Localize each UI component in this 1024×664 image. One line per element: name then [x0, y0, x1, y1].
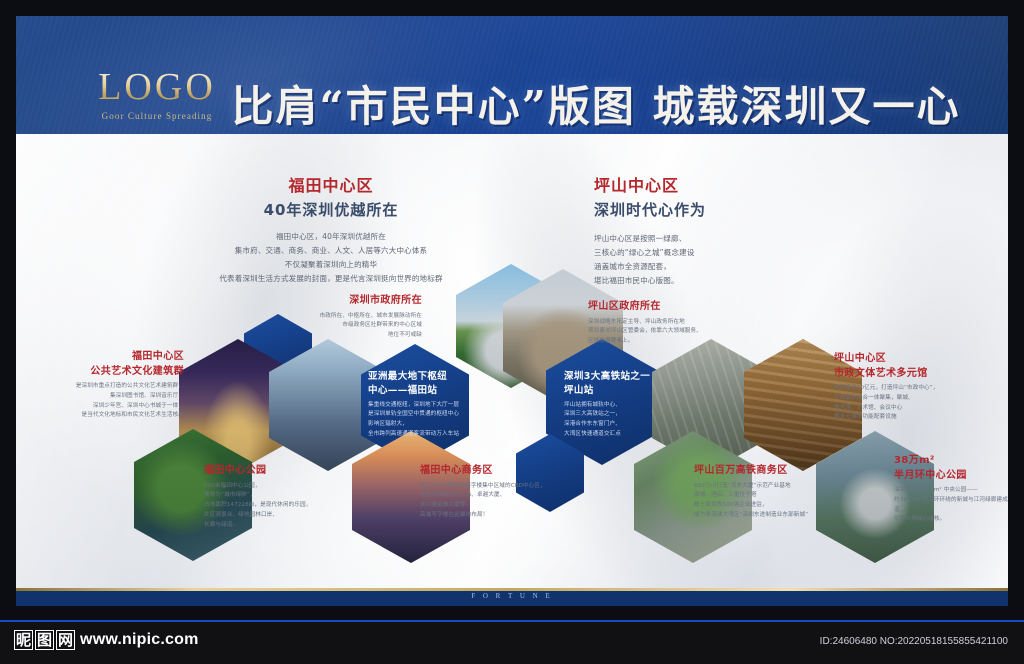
watermark-id: ID:24606480 NO:20220518155855421100 [820, 636, 1008, 647]
watermark-brand-cn: 昵 图 网 [14, 630, 75, 650]
label-pingshan-government: 坪山区政府所在 深圳战略东拓定主导、坪山政务所在地 项目紧邻坪山区管委会，依靠六… [588, 300, 758, 347]
label-pingshan-hsr-station-heading: 深圳3大高铁站之一 坪山站 [564, 370, 670, 398]
label-futian-central-park: 福田中心公园 800米福田中心公园， 被称为“城市绿肺”， 占地面积147228… [204, 464, 354, 530]
watermark-url[interactable]: www.nipic.com [80, 631, 198, 649]
futian-body-line-3: 不仅凝聚着深圳向上的精华 [156, 258, 506, 272]
label-pingshan-arts-pavilion-body: 政府投资10亿元，打造坪山“市政中心”， 文体娱乐综合一体聚集，聚城、 美术馆、… [834, 384, 994, 423]
label-pingshan-hsr-business-heading: 坪山百万高铁商务区 [694, 464, 864, 479]
label-half-moon-park-body: 深圳区大规划万m² 中央公园—— 约38万m² 半月环环绕的新城与江河绿廊建成大… [894, 486, 1008, 525]
label-half-moon-park-heading: 38万m² 半月环中心公园 [894, 454, 1008, 483]
column-heading-pingshan: 坪山中心区 深圳时代心作为 [594, 174, 854, 222]
page-title: 比肩“市民中心”版图 城载深圳又一心 [216, 76, 976, 138]
footer-mark-line-2: C I T Y [16, 603, 1008, 606]
watermark-char-3: 网 [56, 630, 75, 650]
label-pingshan-hsr-business-body: 682万㎡打造“湾东大厦”示范产业基地 商铺、酒店、三重住子塔 数十家世界500… [694, 482, 864, 521]
column-heading-futian: 福田中心区 40年深圳优越所在 [176, 174, 486, 222]
label-pingshan-hsr-business: 坪山百万高铁商务区 682万㎡打造“湾东大厦”示范产业基地 商铺、酒店、三重住子… [694, 464, 864, 521]
label-pingshan-government-body: 深圳战略东拓定主导、坪山政务所在地 项目紧邻坪山区管委会，依靠六大领域服务、 区… [588, 318, 758, 347]
label-sz-government-heading: 深圳市政府所在 [244, 294, 422, 309]
label-half-moon-park: 38万m² 半月环中心公园 深圳区大规划万m² 中央公园—— 约38万m² 半月… [894, 454, 1008, 525]
label-sz-government-body: 市政所在、中枢所在、城市发展脉动所在 市级政务区社群带来的中心区域 地位不可或缺 [244, 312, 422, 341]
label-futian-station-hub: 亚洲最大地下枢纽 中心——福田站 集重线交通枢纽，深圳地下大厅一层 是深圳单轨全… [368, 370, 468, 440]
watermark-bar: 昵 图 网 www.nipic.com ID:24606480 NO:20220… [0, 622, 1024, 664]
label-futian-cbd-heading: 福田中心商务区 [420, 464, 572, 479]
footer-mark-line-1: F O R T U N E [16, 590, 1008, 603]
poster-root: LOGO Goor Culture Spreading 比肩“市民中心”版图 城… [0, 0, 1024, 664]
pingshan-body-line-4: 堪比福田市民中心版图。 [594, 274, 844, 288]
column-title-blue-futian: 40年深圳优越所在 [176, 198, 486, 222]
column-title-red-pingshan: 坪山中心区 [594, 174, 854, 198]
label-pingshan-arts-pavilion: 坪山中心区 市政文体艺术多元馆 政府投资10亿元，打造坪山“市政中心”， 文体娱… [834, 352, 994, 423]
label-futian-central-park-heading: 福田中心公园 [204, 464, 354, 479]
label-pingshan-arts-pavilion-heading: 坪山中心区 市政文体艺术多元馆 [834, 352, 994, 381]
watermark-char-2: 图 [35, 630, 54, 650]
label-futian-station-hub-body: 集重线交通枢纽，深圳地下大厅一层 是深圳单轨全国空中贯通的枢纽中心 影响区辐射大… [368, 401, 468, 440]
label-pingshan-government-heading: 坪山区政府所在 [588, 300, 758, 315]
poster-header: LOGO Goor Culture Spreading 比肩“市民中心”版图 城… [16, 16, 1008, 134]
label-sz-government: 深圳市政府所在 市政所在、中枢所在、城市发展脉动所在 市级政务区社群带来的中心区… [244, 294, 422, 341]
futian-body-line-1: 福田中心区，40年深圳优越所在 [156, 230, 506, 244]
column-body-pingshan: 坪山中心区是按照一绿廊、 三核心的“绿心之城”概念建设 涵盖城市全资源配套， 堪… [594, 232, 844, 288]
footer-brand-mark: F O R T U N E C I T Y [16, 590, 1008, 606]
pingshan-body-line-2: 三核心的“绿心之城”概念建设 [594, 246, 844, 260]
futian-body-line-4: 代表着深圳生活方式发展的封面，更是代言深圳挺向世界的地标群 [156, 272, 506, 286]
pingshan-body-line-1: 坪山中心区是按照一绿廊、 [594, 232, 844, 246]
label-futian-cbd-body: 超700万㎡建筑规模字楼集中区域的CBD中心区， 包括华润新时代广场、卓越大厦、… [420, 482, 572, 521]
column-body-futian: 福田中心区，40年深圳优越所在 集市府、交通、商务、商业、人文、人居等六大中心体… [156, 230, 506, 286]
column-title-blue-pingshan: 深圳时代心作为 [594, 198, 854, 222]
content-canvas: 福田中心区 40年深圳优越所在 福田中心区，40年深圳优越所在 集市府、交通、商… [16, 134, 1008, 591]
watermark-brand: 昵 图 网 www.nipic.com [14, 630, 199, 650]
label-pingshan-hsr-station-body: 坪山站拥有城轨中心、 深圳三大高铁站之一， 深港合作东东窗门户、 大湾区快速通道… [564, 401, 670, 440]
label-futian-central-park-body: 800米福田中心公园， 被称为“城市绿肺”， 占地面积147228亩，是现代休闲… [204, 482, 354, 531]
poster-outer-frame: LOGO Goor Culture Spreading 比肩“市民中心”版图 城… [0, 0, 1024, 622]
label-pingshan-hsr-station: 深圳3大高铁站之一 坪山站 坪山站拥有城轨中心、 深圳三大高铁站之一， 深港合作… [564, 370, 670, 440]
label-futian-station-hub-heading: 亚洲最大地下枢纽 中心——福田站 [368, 370, 468, 398]
label-futian-art-cluster-body: 是深圳市重点打造的公共文化艺术建筑群， 集深圳图书馆、深圳音乐厅、 深圳少年宫、… [36, 382, 184, 421]
poster-inner-canvas: LOGO Goor Culture Spreading 比肩“市民中心”版图 城… [16, 16, 1008, 606]
label-futian-art-cluster: 福田中心区 公共艺术文化建筑群 是深圳市重点打造的公共文化艺术建筑群， 集深圳图… [36, 350, 184, 421]
pingshan-body-line-3: 涵盖城市全资源配套， [594, 260, 844, 274]
column-title-red-futian: 福田中心区 [176, 174, 486, 198]
futian-body-line-2: 集市府、交通、商务、商业、人文、人居等六大中心体系 [156, 244, 506, 258]
label-futian-cbd: 福田中心商务区 超700万㎡建筑规模字楼集中区域的CBD中心区， 包括华润新时代… [420, 464, 572, 521]
label-futian-art-cluster-heading: 福田中心区 公共艺术文化建筑群 [36, 350, 184, 379]
watermark-char-1: 昵 [14, 630, 33, 650]
